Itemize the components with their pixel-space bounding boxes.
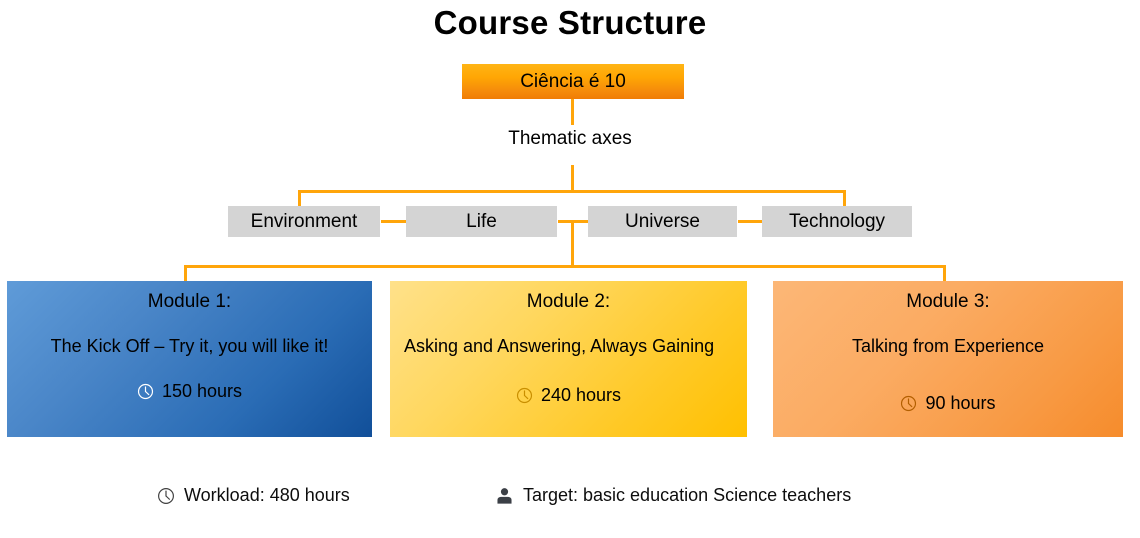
connector-bracket-drop-left <box>298 190 301 207</box>
page-title: Course Structure <box>0 4 1140 42</box>
module-2-hours-label: 240 hours <box>541 385 621 406</box>
connector-axes-to-modules <box>571 220 574 267</box>
axis-box-environment[interactable]: Environment <box>228 206 380 237</box>
module-3-description: Talking from Experience <box>787 335 1109 359</box>
clock-icon <box>900 395 917 412</box>
legend-workload: Workload: 480 hours <box>157 485 350 506</box>
clock-icon <box>516 387 533 404</box>
module-2-description: Asking and Answering, Always Gaining <box>404 335 733 359</box>
module-3-title: Module 3: <box>787 291 1109 313</box>
thematic-axes-label: Thematic axes <box>0 128 1140 150</box>
axis-box-life[interactable]: Life <box>406 206 557 237</box>
module-3-hours: 90 hours <box>787 393 1109 414</box>
legend-target-label: Target: basic education Science teachers <box>523 485 851 506</box>
clock-icon <box>137 383 154 400</box>
clock-icon <box>157 487 175 505</box>
connector-environment-life <box>381 220 406 223</box>
axis-label-environment: Environment <box>251 211 358 233</box>
axis-label-universe: Universe <box>625 211 700 233</box>
person-icon <box>495 486 514 505</box>
module-card-1[interactable]: Module 1: The Kick Off – Try it, you wil… <box>7 281 372 437</box>
axis-box-universe[interactable]: Universe <box>588 206 737 237</box>
connector-modules-bracket-bar <box>184 265 946 268</box>
root-node-ciencia-e-10[interactable]: Ciência é 10 <box>462 64 684 99</box>
module-1-hours: 150 hours <box>21 381 358 402</box>
root-node-label: Ciência é 10 <box>520 71 626 93</box>
module-2-hours: 240 hours <box>404 385 733 406</box>
legend-target: Target: basic education Science teachers <box>495 485 851 506</box>
legend-workload-label: Workload: 480 hours <box>184 485 350 506</box>
diagram-canvas: Course Structure Ciência é 10 Thematic a… <box>0 0 1140 538</box>
axis-label-technology: Technology <box>789 211 885 233</box>
connector-root-to-axes <box>571 99 574 125</box>
module-3-hours-label: 90 hours <box>925 393 995 414</box>
connector-module-1-drop <box>184 265 187 282</box>
axis-box-technology[interactable]: Technology <box>762 206 912 237</box>
connector-universe-technology <box>738 220 762 223</box>
module-2-title: Module 2: <box>404 291 733 313</box>
connector-bracket-drop-right <box>843 190 846 207</box>
connector-module-3-drop <box>943 265 946 282</box>
module-card-2[interactable]: Module 2: Asking and Answering, Always G… <box>390 281 747 437</box>
module-1-title: Module 1: <box>21 291 358 313</box>
connector-axes-bracket-bar <box>298 190 846 193</box>
module-1-hours-label: 150 hours <box>162 381 242 402</box>
connector-axes-to-bracket <box>571 165 574 191</box>
module-1-description: The Kick Off – Try it, you will like it! <box>21 335 358 359</box>
module-card-3[interactable]: Module 3: Talking from Experience 90 hou… <box>773 281 1123 437</box>
axis-label-life: Life <box>466 211 497 233</box>
